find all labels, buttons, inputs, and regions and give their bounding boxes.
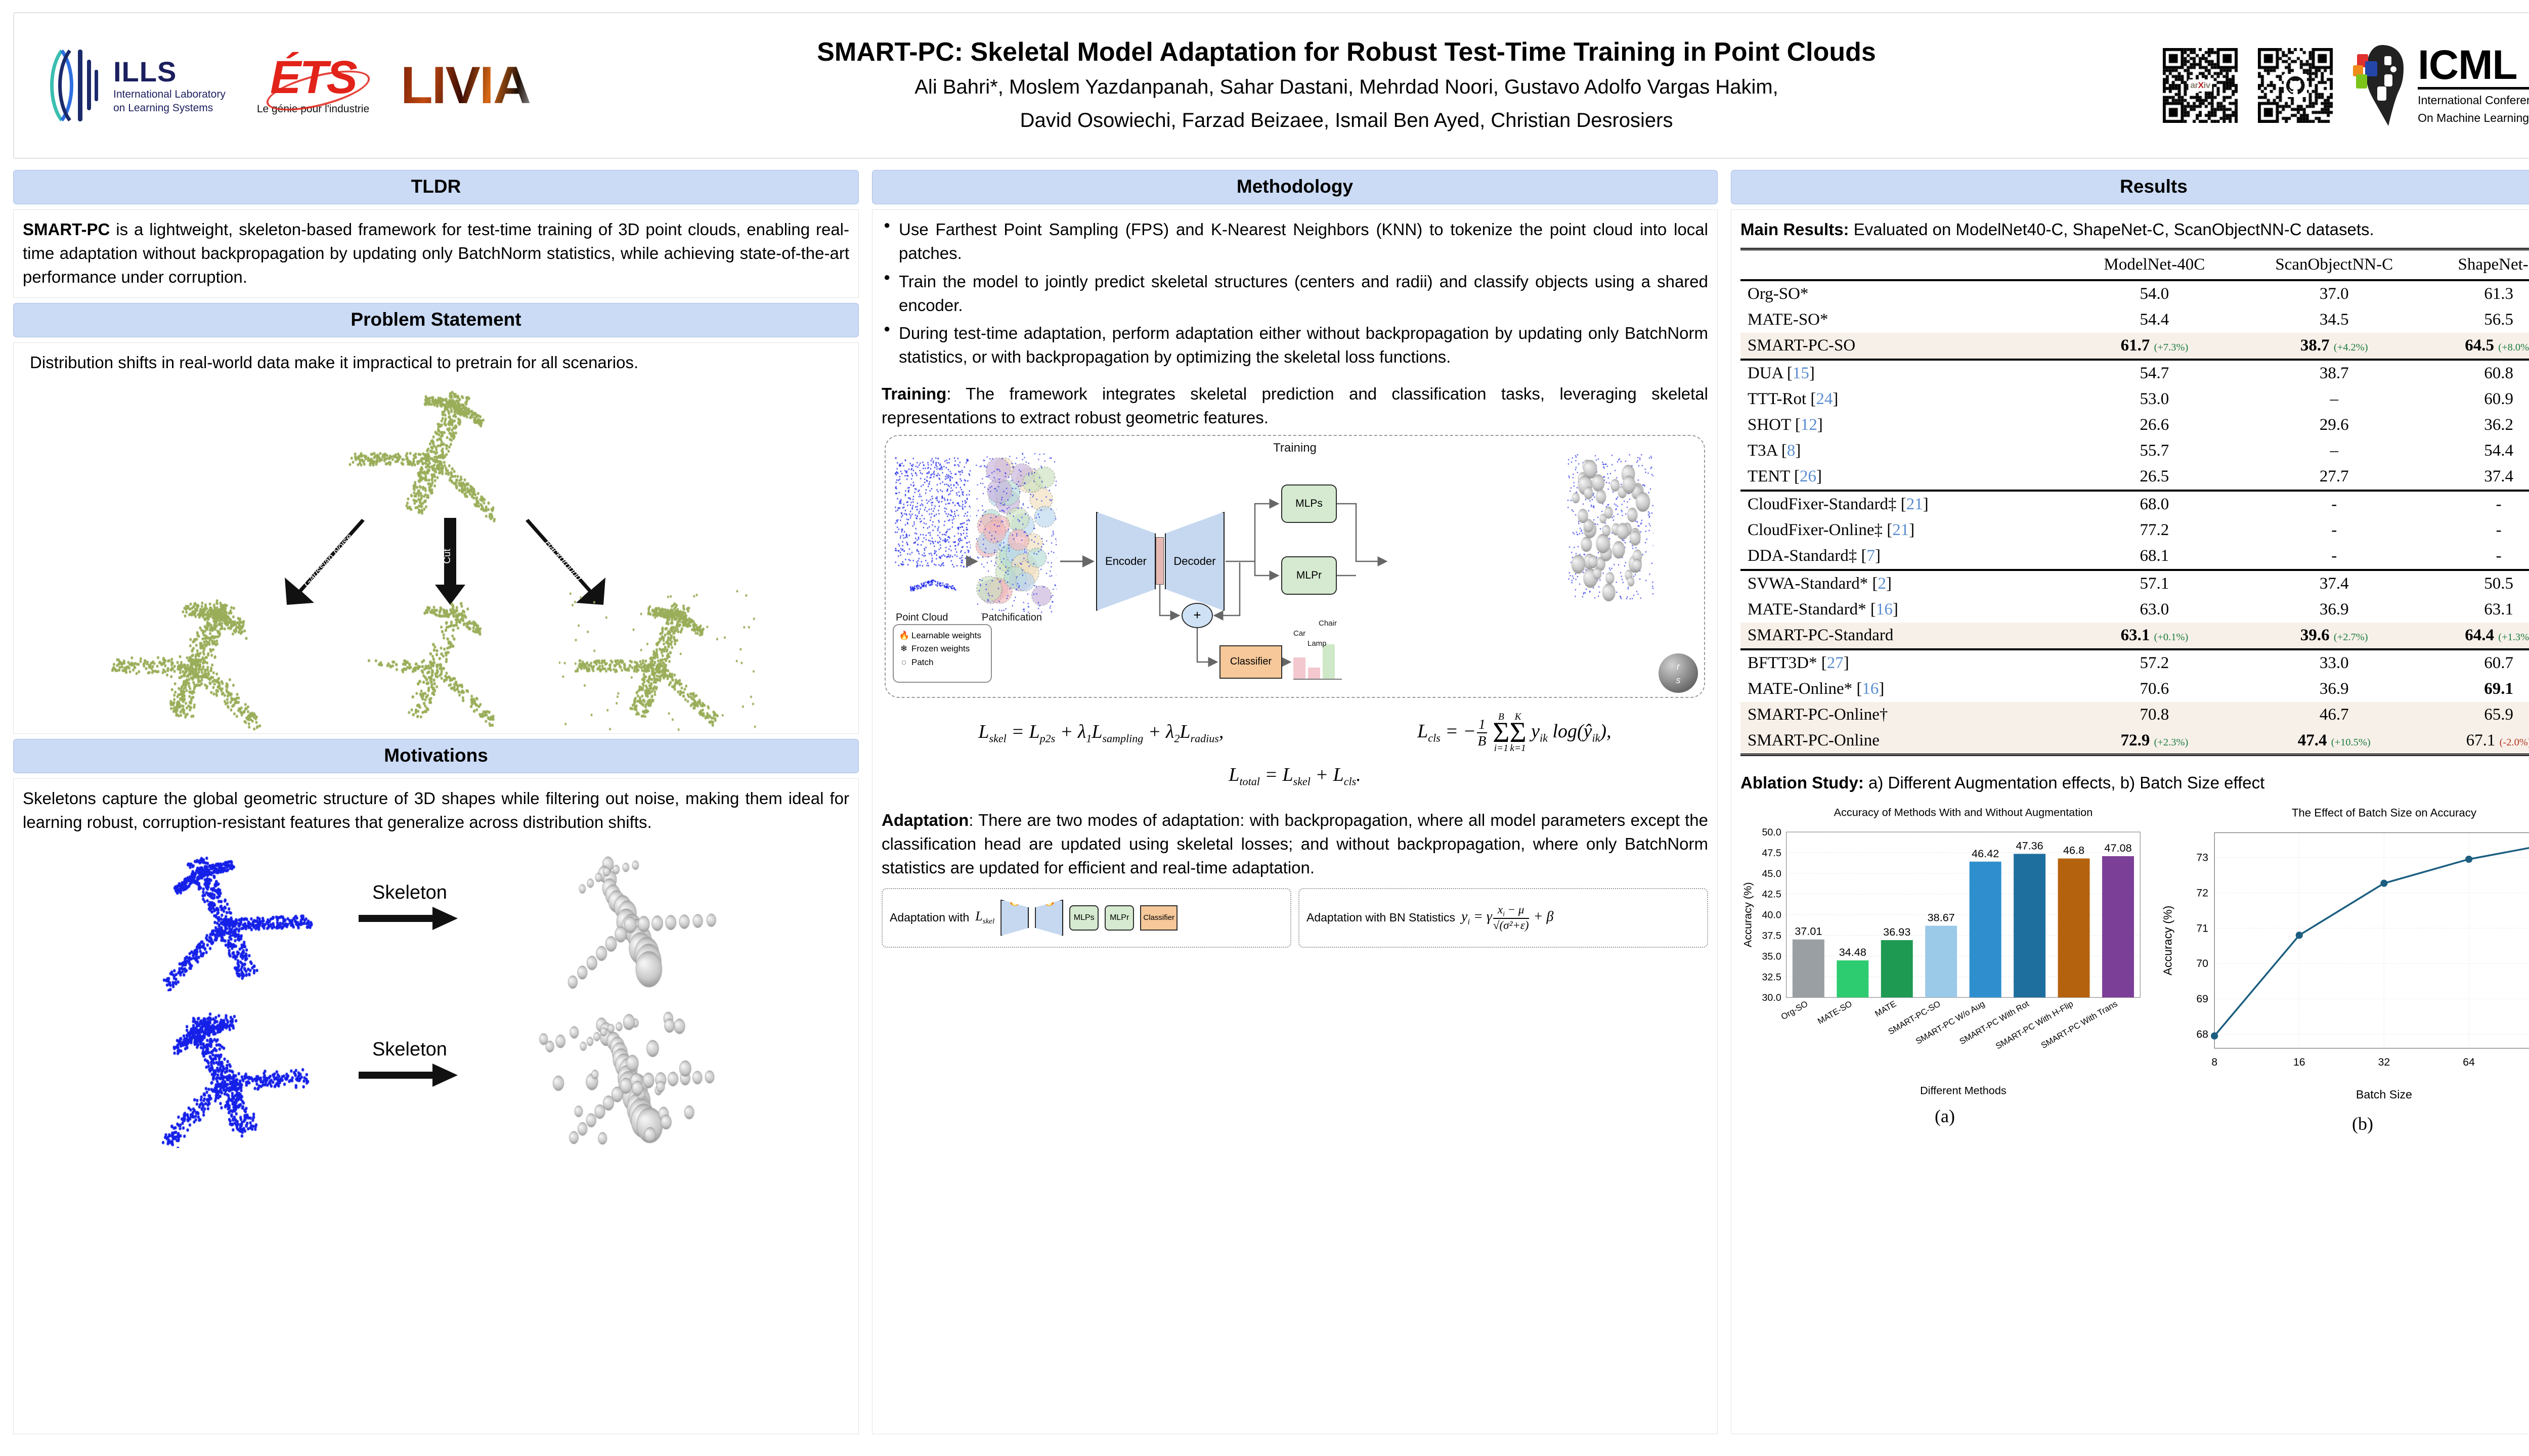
- col-header-shapenet: ShapeNet-C: [2430, 249, 2529, 280]
- point-cloud-gaussian: [99, 584, 301, 735]
- table-row: DUA [15]54.738.760.8: [1740, 361, 2529, 386]
- table-cell-value: 56.5: [2430, 307, 2529, 333]
- table-cell-method: DDA-Standard‡ [7]: [1740, 543, 2071, 570]
- chart-a-wrapper: Accuracy of Methods With and Without Aug…: [1740, 803, 2149, 1134]
- table-row: CloudFixer-Online‡ [21]77.2--: [1740, 517, 2529, 543]
- table-cell-method: TENT [26]: [1740, 464, 2071, 491]
- mlp-s-block: MLPs: [1281, 484, 1337, 523]
- ablation-bold-lead: Ablation Study:: [1740, 773, 1864, 792]
- training-body: : The framework integrates skeletal pred…: [882, 384, 1708, 427]
- svg-text:37.01: 37.01: [1795, 924, 1822, 937]
- table-row: SMART-PC-Online†70.846.765.9: [1740, 702, 2529, 728]
- svg-text:38.67: 38.67: [1928, 911, 1955, 923]
- table-cell-value: –: [2238, 386, 2430, 412]
- main-results-bold-lead: Main Results:: [1740, 220, 1849, 239]
- plane-skeleton-noisy: [518, 1001, 736, 1148]
- page-title: SMART-PC: Skeletal Model Adaptation for …: [550, 37, 2143, 68]
- svg-text:SMART-PC With Trans: SMART-PC With Trans: [2039, 999, 2119, 1050]
- table-cell-value: 77.2: [2071, 517, 2238, 543]
- mini-decoder-block: 🔥: [1035, 900, 1063, 936]
- svg-text:Batch Size: Batch Size: [2356, 1087, 2412, 1100]
- svg-text:16: 16: [2293, 1056, 2305, 1068]
- bar-chart-augmentation: Accuracy of Methods With and Without Aug…: [1740, 803, 2149, 1102]
- table-cell-method: DUA [15]: [1740, 361, 2071, 386]
- adaptation-modes-row: Adaptation with Lskel 🔥 🔥 MLPs MLPr Clas…: [882, 888, 1708, 948]
- ills-name: ILLS: [113, 57, 226, 87]
- table-cell-value: 70.8: [2071, 702, 2238, 728]
- table-cell-value: 57.1: [2071, 571, 2238, 597]
- table-cell-value: 63.1: [2430, 597, 2529, 623]
- table-cell-value: 34.5: [2238, 307, 2430, 333]
- table-cell-value: 60.7: [2430, 650, 2529, 676]
- adaptation-paragraph: Adaptation: There are two modes of adapt…: [882, 809, 1708, 880]
- authors-line-1: Ali Bahri*, Moslem Yazdanpanah, Sahar Da…: [550, 74, 2143, 101]
- table-row: SVWA-Standard* [2]57.137.450.5: [1740, 571, 2529, 597]
- table-cell-method: SMART-PC-Online†: [1740, 702, 2071, 728]
- table-cell-value: 63.0: [2071, 597, 2238, 623]
- poster-root: ILLS International Laboratory on Learnin…: [0, 0, 2529, 1456]
- table-cell-value: 37.0: [2238, 281, 2430, 307]
- table-row: MATE-SO*54.434.556.5: [1740, 307, 2529, 333]
- table-cell-value: 54.7: [2071, 361, 2238, 386]
- qr-code-arxiv[interactable]: arXiv: [2163, 48, 2238, 123]
- sum-node: +: [1182, 603, 1213, 628]
- col-header-method: [1740, 249, 2071, 280]
- livia-logo: LIVIA: [401, 59, 530, 112]
- sphere-r-label: r: [1677, 661, 1680, 672]
- table-cell-value: -: [2238, 492, 2430, 517]
- icml-subtitle-1: International Conference: [2418, 93, 2529, 108]
- equations-row: Lskel = Lp2s + λ1Lsampling + λ2Lradius, …: [882, 713, 1708, 753]
- table-body: Org-SO*54.037.061.3MATE-SO*54.434.556.5S…: [1740, 281, 2529, 756]
- section-header-problem: Problem Statement: [13, 303, 859, 337]
- svg-text:Org-SO: Org-SO: [1779, 999, 1809, 1022]
- main-results-table: ModelNet-40C ScanObjectNN-C ShapeNet-C O…: [1740, 248, 2529, 756]
- arrow-label-gaussian: Gaussian Noise: [301, 532, 355, 590]
- legend-item-frozen: ❄Frozen weights: [899, 642, 986, 655]
- svg-text:32: 32: [2378, 1056, 2390, 1068]
- table-row: SMART-PC-Standard63.1 (+0.1%)39.6 (+2.7%…: [1740, 623, 2529, 649]
- svg-text:42.5: 42.5: [1762, 889, 1781, 900]
- bar-label-car: Car: [1293, 629, 1305, 638]
- arrow-label-cut: Cut: [442, 549, 453, 564]
- table-cell-value: 60.9: [2430, 386, 2529, 412]
- table-row: DDA-Standard‡ [7]68.1--: [1740, 543, 2529, 570]
- latent-block: [1156, 537, 1164, 585]
- flame-icon: 🔥: [1008, 894, 1022, 907]
- github-icon: [2284, 74, 2307, 97]
- table-row: MATE-Standard* [16]63.036.963.1: [1740, 597, 2529, 623]
- svg-text:32.5: 32.5: [1762, 972, 1781, 983]
- table-cell-value: 64.4 (+1.3%): [2430, 623, 2529, 649]
- table-rule: [1740, 755, 2529, 756]
- table-cell-value: -: [2430, 492, 2529, 517]
- table-cell-method: SMART-PC-SO: [1740, 333, 2071, 360]
- table-cell-value: –: [2238, 438, 2430, 464]
- skeleton-arrow-label-1: Skeleton: [357, 882, 463, 904]
- adaptation-bold-lead: Adaptation: [882, 811, 969, 829]
- table-cell-method: SMART-PC-Online: [1740, 728, 2071, 755]
- ablation-charts: Accuracy of Methods With and Without Aug…: [1740, 803, 2529, 1134]
- legend-label-patch: Patch: [911, 657, 933, 667]
- table-cell-value: -: [2238, 517, 2430, 543]
- methodology-bullet-list: Use Farthest Point Sampling (FPS) and K-…: [882, 218, 1708, 369]
- tldr-bold-lead: SMART-PC: [23, 220, 110, 239]
- table-cell-value: 33.0: [2238, 650, 2430, 676]
- mini-mlpr-block: MLPr: [1105, 905, 1134, 931]
- svg-text:71: 71: [2196, 922, 2208, 934]
- table-cell-value: 38.7: [2238, 361, 2430, 386]
- chart-b-wrapper: The Effect of Batch Size on Accuracy6869…: [2158, 803, 2529, 1134]
- column-right: Results Main Results: Evaluated on Model…: [1731, 170, 2529, 1434]
- ablation-heading: Ablation Study: a) Different Augmentatio…: [1740, 771, 2529, 795]
- section-header-tldr: TLDR: [13, 170, 859, 204]
- table-row: Org-SO*54.037.061.3: [1740, 281, 2529, 307]
- arrow-label-background: Background: [542, 538, 584, 584]
- sum-symbol-i: BΣi=1: [1493, 713, 1509, 753]
- svg-text:47.36: 47.36: [2016, 839, 2043, 852]
- point-cloud-original: [331, 376, 544, 528]
- snowflake-icon: ❄: [899, 642, 909, 655]
- training-bold-lead: Training: [882, 384, 946, 403]
- table-cell-method: BFTT3D* [27]: [1740, 650, 2071, 676]
- adapt-left-equation: Lskel: [975, 909, 994, 926]
- table-head: ModelNet-40C ScanObjectNN-C ShapeNet-C: [1740, 249, 2529, 281]
- table-header-row: ModelNet-40C ScanObjectNN-C ShapeNet-C: [1740, 249, 2529, 280]
- svg-text:40.0: 40.0: [1762, 909, 1781, 920]
- table-cell-value: 50.5: [2430, 571, 2529, 597]
- ets-logo: ÉTS Le génie pour l'industrie: [257, 56, 369, 115]
- table-row: CloudFixer-Standard‡ [21]68.0--: [1740, 492, 2529, 517]
- plane-point-cloud-clean: [114, 845, 331, 991]
- table-cell-value: 67.1 (-2.0%): [2430, 728, 2529, 755]
- svg-text:73: 73: [2196, 852, 2208, 863]
- svg-text:47.08: 47.08: [2104, 842, 2131, 854]
- bar-label-lamp: Lamp: [1307, 639, 1327, 648]
- bar-chair: [1323, 644, 1335, 679]
- list-item: During test-time adaptation, perform ada…: [882, 322, 1708, 369]
- mlp-r-block: MLPr: [1281, 556, 1337, 595]
- legend-label-frozen: Frozen weights: [911, 644, 970, 653]
- svg-text:Different Methods: Different Methods: [1920, 1084, 2007, 1096]
- main-results-body: Evaluated on ModelNet40-C, ShapeNet-C, S…: [1849, 220, 2374, 239]
- table-cell-value: 36.2: [2430, 412, 2529, 438]
- ablation-body: a) Different Augmentation effects, b) Ba…: [1864, 773, 2264, 792]
- icml-name: ICML: [2418, 46, 2529, 90]
- authors-line-2: David Osowiechi, Farzad Beizaee, Ismail …: [550, 107, 2143, 135]
- table-cell-value: 36.9: [2238, 597, 2430, 623]
- mini-mlps-block: MLPs: [1069, 905, 1099, 931]
- equation-skeletal-loss: Lskel = Lp2s + λ1Lsampling + λ2Lradius,: [978, 721, 1224, 745]
- table-cell-value: 54.4: [2430, 438, 2529, 464]
- adapt-right-equation: yi = γxi − μ√(σ²+ε) + β: [1461, 903, 1553, 933]
- table-cell-method: T3A [8]: [1740, 438, 2071, 464]
- table-row: TENT [26]26.527.737.4: [1740, 464, 2529, 491]
- table-cell-method: SMART-PC-Standard: [1740, 623, 2071, 649]
- problem-panel: Distribution shifts in real-world data m…: [13, 342, 859, 734]
- tldr-text: SMART-PC is a lightweight, skeleton-base…: [23, 218, 849, 289]
- table-cell-value: 37.4: [2430, 464, 2529, 491]
- poster-columns: TLDR SMART-PC is a lightweight, skeleton…: [13, 170, 2529, 1434]
- table-row: SHOT [12]26.629.636.2: [1740, 412, 2529, 438]
- tldr-body: is a lightweight, skeleton-based framewo…: [23, 220, 849, 286]
- icml-brain-icon: [2353, 43, 2410, 128]
- table-cell-value: 72.9 (+2.3%): [2071, 728, 2238, 755]
- column-middle: Methodology Use Farthest Point Sampling …: [872, 170, 1718, 1434]
- bar-car: [1293, 657, 1305, 679]
- table-cell-value: 68.1: [2071, 543, 2238, 570]
- svg-text:30.0: 30.0: [1762, 992, 1781, 1003]
- adaptation-card-skeletal: Adaptation with Lskel 🔥 🔥 MLPs MLPr Clas…: [882, 888, 1291, 948]
- adapt-right-label: Adaptation with BN Statistics: [1306, 911, 1455, 924]
- table-cell-method: SHOT [12]: [1740, 412, 2071, 438]
- problem-text: Distribution shifts in real-world data m…: [23, 351, 849, 375]
- svg-text:72: 72: [2196, 887, 2208, 899]
- svg-text:MATE: MATE: [1873, 999, 1898, 1019]
- table-cell-value: 63.1 (+0.1%): [2071, 623, 2238, 649]
- table-cell-value: 64.5 (+8.0%): [2430, 333, 2529, 360]
- table-cell-value: 54.4: [2071, 307, 2238, 333]
- svg-text:45.0: 45.0: [1762, 868, 1781, 879]
- table-cell-value: 38.7 (+4.2%): [2238, 333, 2430, 360]
- table-cell-method: TTT-Rot [24]: [1740, 386, 2071, 412]
- svg-text:Accuracy of Methods With and W: Accuracy of Methods With and Without Aug…: [1834, 806, 2093, 818]
- poster-header: ILLS International Laboratory on Learnin…: [13, 12, 2529, 159]
- table-cell-value: -: [2430, 517, 2529, 543]
- chart-b-caption: (b): [2158, 1113, 2529, 1134]
- equation-total-loss: Ltotal = Lskel + Lcls.: [882, 764, 1708, 788]
- sum-symbol-k: KΣk=1: [1509, 713, 1526, 753]
- skeleton-arrow-label-2: Skeleton: [357, 1039, 463, 1061]
- motivations-panel: Skeletons capture the global geometric s…: [13, 778, 859, 1434]
- table-cell-value: -: [2238, 543, 2430, 570]
- chart-a-caption: (a): [1740, 1106, 2149, 1127]
- table-cell-method: MATE-SO*: [1740, 307, 2071, 333]
- legend-item-patch: ◌Patch: [899, 656, 986, 669]
- table-cell-value: 46.7: [2238, 702, 2430, 728]
- list-item: Use Farthest Point Sampling (FPS) and K-…: [882, 218, 1708, 266]
- svg-text:8: 8: [2211, 1056, 2217, 1068]
- title-block: SMART-PC: Skeletal Model Adaptation for …: [530, 37, 2163, 135]
- svg-text:50.0: 50.0: [1762, 827, 1781, 838]
- svg-text:68: 68: [2196, 1029, 2208, 1040]
- motivations-text: Skeletons capture the global geometric s…: [23, 787, 849, 834]
- arxiv-badge: arXiv: [2189, 79, 2212, 92]
- classifier-block: Classifier: [1219, 645, 1282, 679]
- table-row: TTT-Rot [24]53.0–60.9: [1740, 386, 2529, 412]
- arrow-right-icon-1: [357, 904, 463, 933]
- table-cell-value: 61.7 (+7.3%): [2071, 333, 2238, 360]
- table-cell-value: 26.6: [2071, 412, 2238, 438]
- skeleton-arrow-2: Skeleton: [357, 1039, 463, 1092]
- icml-logo: ICML International Conference On Machine…: [2353, 43, 2529, 128]
- ills-logo: ILLS International Laboratory on Learnin…: [45, 46, 226, 125]
- section-header-motivations: Motivations: [13, 739, 859, 773]
- adapt-left-label: Adaptation with: [890, 911, 969, 924]
- table-cell-value: 55.7: [2071, 438, 2238, 464]
- table-cell-method: SVWA-Standard* [2]: [1740, 571, 2071, 597]
- plane-point-cloud-noisy: [114, 1001, 331, 1148]
- icml-subtitle-2: On Machine Learning: [2418, 111, 2529, 125]
- table-cell-method: MATE-Standard* [16]: [1740, 597, 2071, 623]
- svg-text:The Effect of Batch Size on Ac: The Effect of Batch Size on Accuracy: [2292, 806, 2477, 819]
- skeleton-arrow-1: Skeleton: [357, 882, 463, 936]
- table-cell-method: Org-SO*: [1740, 281, 2071, 307]
- corruption-figure: Gaussian Noise Cut Background: [23, 376, 849, 725]
- svg-text:37.5: 37.5: [1762, 930, 1781, 941]
- svg-text:34.48: 34.48: [1839, 946, 1866, 958]
- table-cell-value: 69.1: [2430, 676, 2529, 702]
- arrow-right-icon-2: [357, 1061, 463, 1090]
- svg-text:36.93: 36.93: [1883, 925, 1910, 938]
- table-cell-value: 37.4: [2238, 571, 2430, 597]
- sphere-s-label: s: [1676, 675, 1681, 686]
- mini-classifier-block: Classifier: [1140, 905, 1178, 931]
- flame-icon: 🔥: [899, 629, 909, 642]
- svg-text:47.5: 47.5: [1762, 848, 1781, 859]
- legend-item-learnable: 🔥Learnable weights: [899, 629, 986, 642]
- methodology-panel: Use Farthest Point Sampling (FPS) and K-…: [872, 209, 1718, 1434]
- table-cell-value: 60.8: [2430, 361, 2529, 386]
- table-cell-value: 57.2: [2071, 650, 2238, 676]
- tldr-panel: SMART-PC is a lightweight, skeleton-base…: [13, 209, 859, 298]
- table-cell-value: 70.6: [2071, 676, 2238, 702]
- table-row: SMART-PC-SO61.7 (+7.3%)38.7 (+4.2%)64.5 …: [1740, 333, 2529, 360]
- table-cell-value: 39.6 (+2.7%): [2238, 623, 2430, 649]
- svg-text:46.42: 46.42: [1972, 847, 1999, 860]
- ills-helix-icon: [45, 46, 104, 125]
- svg-text:Accuracy (%): Accuracy (%): [1741, 882, 1754, 947]
- table-cell-value: 53.0: [2071, 386, 2238, 412]
- plane-skeleton-clean: [518, 845, 736, 991]
- main-results-text: Main Results: Evaluated on ModelNet40-C,…: [1740, 218, 2529, 242]
- table-row: BFTT3D* [27]57.233.060.7: [1740, 650, 2529, 676]
- svg-text:69: 69: [2196, 993, 2208, 1005]
- mini-encoder-block: 🔥: [1000, 900, 1029, 936]
- table-cell-value: 65.9: [2430, 702, 2529, 728]
- line-chart-batch-size: The Effect of Batch Size on Accuracy6869…: [2158, 803, 2529, 1110]
- ets-name: ÉTS: [270, 56, 356, 100]
- table-row: T3A [8]55.7–54.4: [1740, 438, 2529, 464]
- table-cell-value: 61.3: [2430, 281, 2529, 307]
- table-cell-value: 47.4 (+10.5%): [2238, 728, 2430, 755]
- section-header-methodology: Methodology: [872, 170, 1718, 204]
- svg-text:35.0: 35.0: [1762, 951, 1781, 962]
- table-cell-value: -: [2430, 543, 2529, 570]
- col-header-modelnet: ModelNet-40C: [2071, 249, 2238, 280]
- right-logos: arXiv: [2163, 43, 2529, 128]
- bar-lamp: [1308, 668, 1320, 679]
- table-cell-value: 68.0: [2071, 492, 2238, 517]
- table-cell-value: 29.6: [2238, 412, 2430, 438]
- radius-sphere-icon: r s: [1659, 653, 1698, 693]
- table-cell-method: CloudFixer-Standard‡ [21]: [1740, 492, 2071, 517]
- table-row: SMART-PC-Online72.9 (+2.3%)47.4 (+10.5%)…: [1740, 728, 2529, 755]
- equation-classification-loss: Lcls = −1B BΣi=1KΣk=1 yik log(ŷik),: [1417, 713, 1611, 753]
- svg-text:70: 70: [2196, 958, 2208, 969]
- legend-label-learnable: Learnable weights: [911, 631, 981, 640]
- flame-icon: 🔥: [1042, 894, 1056, 907]
- adaptation-card-bn: Adaptation with BN Statistics yi = γxi −…: [1298, 888, 1708, 948]
- adaptation-body: : There are two modes of adaptation: wit…: [882, 811, 1708, 877]
- table-cell-value: 27.7: [2238, 464, 2430, 491]
- svg-text:SMART-PC With H-Flip: SMART-PC With H-Flip: [1994, 999, 2075, 1051]
- bar-label-chair: Chair: [1319, 619, 1337, 628]
- section-header-results: Results: [1731, 170, 2529, 204]
- svg-text:64: 64: [2463, 1056, 2475, 1068]
- col-header-scanobject: ScanObjectNN-C: [2238, 249, 2430, 280]
- dashed-circle-icon: ◌: [899, 656, 909, 669]
- point-cloud-cut: [336, 584, 539, 735]
- affiliation-logos: ILLS International Laboratory on Learnin…: [29, 46, 530, 125]
- table-cell-value: 26.5: [2071, 464, 2238, 491]
- diagram-output-skeleton: [1567, 454, 1653, 606]
- point-cloud-background: [559, 584, 761, 735]
- table-cell-method: MATE-Online* [16]: [1740, 676, 2071, 702]
- qr-code-github[interactable]: [2258, 48, 2333, 123]
- table-cell-value: 54.0: [2071, 281, 2238, 307]
- svg-text:46.8: 46.8: [2063, 844, 2084, 856]
- results-panel: Main Results: Evaluated on ModelNet40-C,…: [1731, 209, 2529, 1434]
- table-row: MATE-Online* [16]70.636.969.1: [1740, 676, 2529, 702]
- architecture-diagram: Training Point Cloud Patchification: [885, 435, 1705, 698]
- training-paragraph: Training: The framework integrates skele…: [882, 382, 1708, 430]
- table-cell-value: 36.9: [2238, 676, 2430, 702]
- ills-subtitle-2: on Learning Systems: [113, 103, 226, 114]
- skeleton-figure: Skeleton Skeleton: [23, 845, 849, 1158]
- diagram-legend: 🔥Learnable weights ❄Frozen weights ◌Patc…: [893, 624, 992, 683]
- ills-subtitle-1: International Laboratory: [113, 89, 226, 100]
- column-left: TLDR SMART-PC is a lightweight, skeleton…: [13, 170, 859, 1434]
- list-item: Train the model to jointly predict skele…: [882, 270, 1708, 318]
- svg-text:MATE-SO: MATE-SO: [1816, 999, 1854, 1026]
- svg-text:Accuracy (%): Accuracy (%): [2161, 905, 2174, 975]
- table-cell-method: CloudFixer-Online‡ [21]: [1740, 517, 2071, 543]
